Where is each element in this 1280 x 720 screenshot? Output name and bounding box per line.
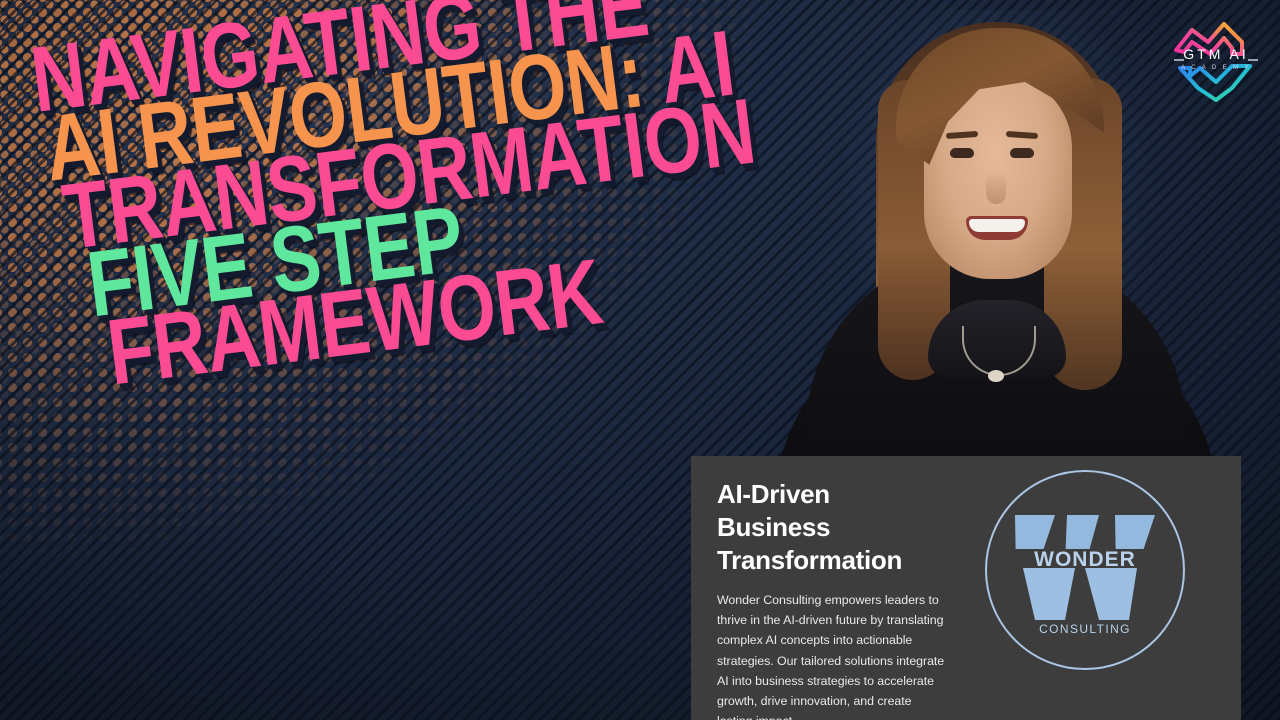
- wonder-logo-w-bottom-icon: [1023, 568, 1147, 620]
- presenter-nose: [986, 172, 1006, 204]
- wonder-consulting-logo[interactable]: WONDER CONSULTING: [985, 470, 1185, 670]
- info-card-title: AI-Driven Business Transformation: [717, 478, 949, 576]
- wonder-logo-w-top-icon: [1015, 515, 1155, 549]
- wonder-logo-name: WONDER: [985, 548, 1185, 572]
- presenter-pendant: [988, 370, 1004, 382]
- gtm-ai-academy-logo[interactable]: GTM AI A C A D E M Y: [1166, 8, 1266, 108]
- gtm-logo-subtitle: A C A D E M Y: [1166, 65, 1266, 71]
- presenter-eye-left: [950, 148, 974, 158]
- presenter-teeth: [969, 219, 1025, 232]
- info-card-text-column: AI-Driven Business Transformation Wonder…: [691, 456, 959, 720]
- presenter-eye-right: [1010, 148, 1034, 158]
- wonder-logo-subtitle: CONSULTING: [985, 622, 1185, 636]
- thumbnail-canvas: NAVIGATING THE AI REVOLUTION: AI TRANSFO…: [0, 0, 1280, 720]
- gtm-logo-name: GTM AI: [1166, 46, 1266, 62]
- presenter-mouth: [966, 216, 1028, 240]
- info-card-body: Wonder Consulting empowers leaders to th…: [717, 590, 949, 720]
- info-card: AI-Driven Business Transformation Wonder…: [691, 456, 1241, 720]
- info-card-logo-column: WONDER CONSULTING: [959, 456, 1241, 720]
